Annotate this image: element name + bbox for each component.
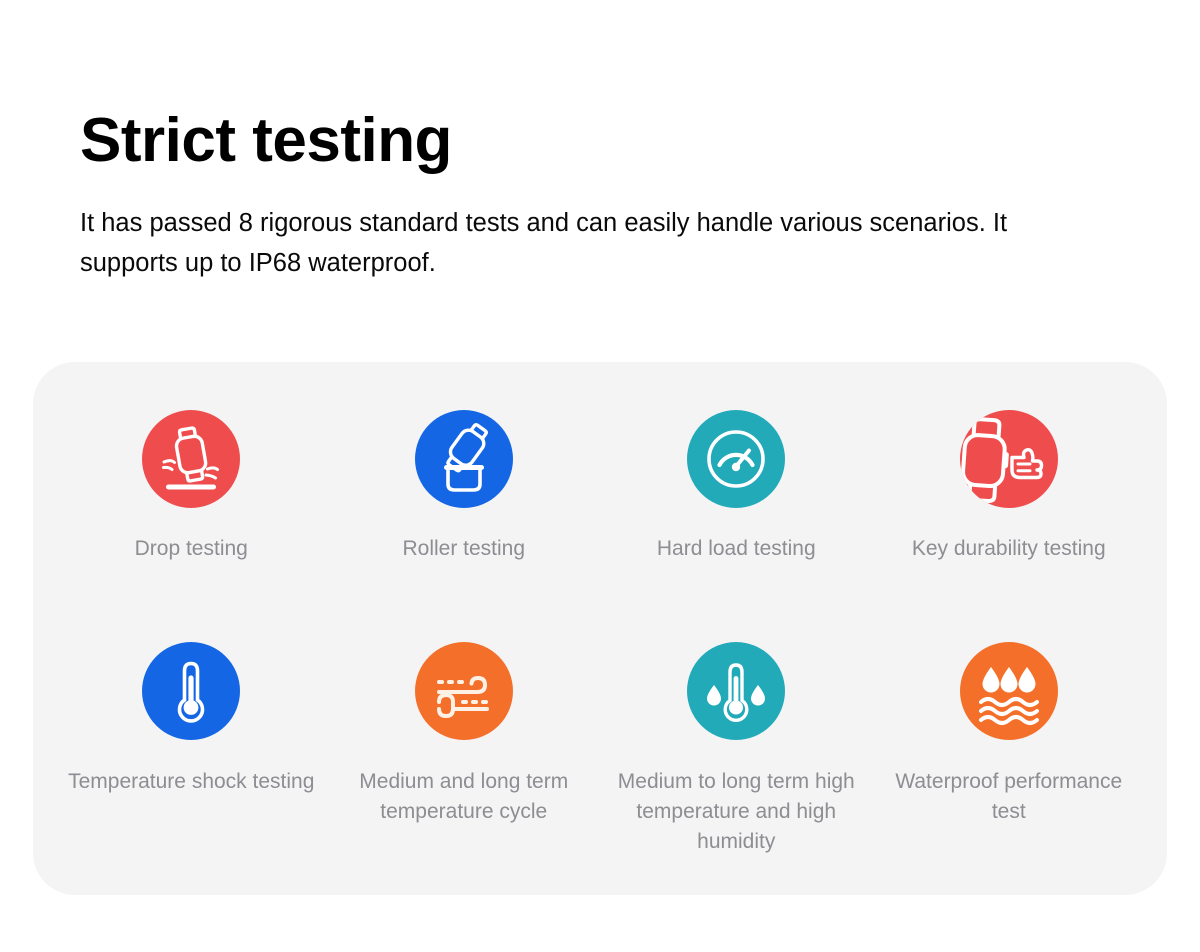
test-item-waterproof-performance: Waterproof performance test xyxy=(873,642,1146,866)
test-item-roller-testing: Roller testing xyxy=(328,410,601,638)
test-item-label: Medium and long term temperature cycle xyxy=(339,767,589,828)
test-item-label: Drop testing xyxy=(135,534,248,564)
testing-card-panel: Drop testing Roller testing xyxy=(33,362,1167,895)
test-item-label: Key durability testing xyxy=(912,534,1106,564)
wind-airflow-icon xyxy=(415,642,513,740)
testing-grid: Drop testing Roller testing xyxy=(33,362,1167,895)
watch-press-hand-icon xyxy=(960,410,1058,508)
watch-drum-icon xyxy=(415,410,513,508)
test-item-drop-testing: Drop testing xyxy=(55,410,328,638)
page-subtitle: It has passed 8 rigorous standard tests … xyxy=(80,203,1015,284)
gauge-icon xyxy=(687,410,785,508)
heading-block: Strict testing It has passed 8 rigorous … xyxy=(80,108,1120,284)
test-item-label: Roller testing xyxy=(402,534,525,564)
test-item-high-temp-humidity: Medium to long term high temperature and… xyxy=(600,642,873,866)
test-item-temperature-shock-testing: Temperature shock testing xyxy=(55,642,328,866)
test-item-label: Medium to long term high temperature and… xyxy=(611,767,861,858)
test-item-temperature-cycle: Medium and long term temperature cycle xyxy=(328,642,601,866)
test-item-label: Waterproof performance test xyxy=(884,767,1134,828)
thermometer-icon xyxy=(142,642,240,740)
test-item-label: Temperature shock testing xyxy=(68,767,314,797)
strict-testing-page: Strict testing It has passed 8 rigorous … xyxy=(0,0,1200,952)
thermometer-humidity-icon xyxy=(687,642,785,740)
test-item-key-durability-testing: Key durability testing xyxy=(873,410,1146,638)
watch-drop-icon xyxy=(142,410,240,508)
page-title: Strict testing xyxy=(80,108,1120,175)
test-item-hard-load-testing: Hard load testing xyxy=(600,410,873,638)
test-item-label: Hard load testing xyxy=(657,534,816,564)
water-drops-waves-icon xyxy=(960,642,1058,740)
